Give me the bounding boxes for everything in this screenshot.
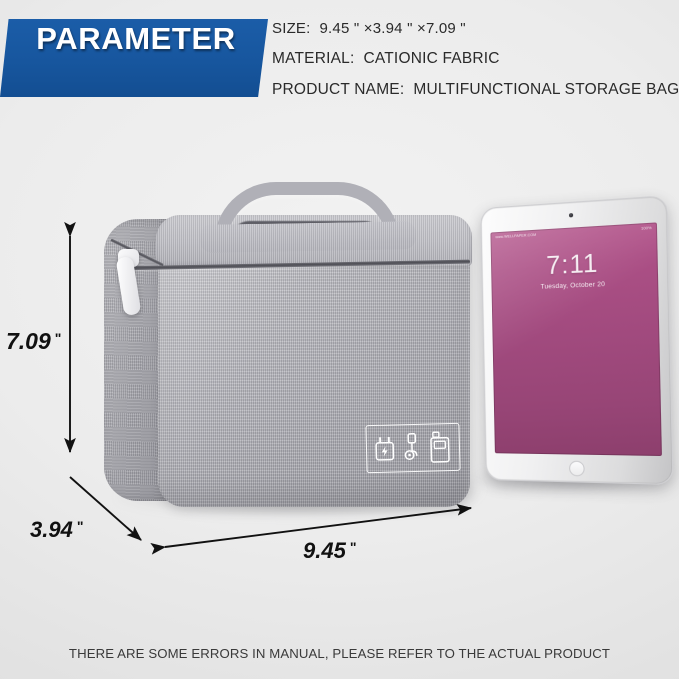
tablet-home-button bbox=[568, 461, 584, 477]
spec-value-size: 9.45 " ×3.94 " ×7.09 " bbox=[320, 20, 466, 37]
width-dimension-label: 9.45" bbox=[303, 538, 356, 564]
height-dimension-unit: " bbox=[55, 330, 62, 346]
spec-value-material: CATIONIC FABRIC bbox=[363, 50, 499, 68]
tablet-screen: www.WELLPAPER.COM 100% 7:11 Tuesday, Oct… bbox=[490, 222, 661, 456]
spec-key-material: MATERIAL: bbox=[272, 50, 354, 68]
parameter-banner-label: PARAMETER bbox=[0, 0, 268, 78]
tablet-carrier-label: www.WELLPAPER.COM bbox=[495, 233, 536, 239]
spec-row-size: SIZE: 9.45 " ×3.94 " ×7.09 " bbox=[272, 20, 676, 50]
product-spec-image: www.WELLPAPER.COM 100% 7:11 Tuesday, Oct… bbox=[0, 0, 679, 679]
tablet-lockscreen-clock: 7:11 Tuesday, October 20 bbox=[491, 248, 658, 293]
tablet-camera-icon bbox=[569, 213, 573, 217]
tablet-time: 7:11 bbox=[491, 248, 658, 282]
spec-key-product-name: PRODUCT NAME: bbox=[272, 81, 404, 99]
spec-value-product-name: MULTIFUNCTIONAL STORAGE BAG bbox=[413, 81, 679, 99]
width-dimension-value: 9.45 bbox=[303, 538, 346, 563]
tablet-date: Tuesday, October 20 bbox=[492, 279, 659, 293]
power-bank-icon bbox=[428, 431, 451, 464]
bag-accessory-icon-patch bbox=[365, 423, 460, 473]
spec-key-size: SIZE: bbox=[272, 20, 311, 37]
storage-bag bbox=[104, 205, 474, 515]
bag-handle-base bbox=[200, 221, 416, 253]
charger-icon bbox=[375, 435, 396, 462]
height-dimension-value: 7.09 bbox=[6, 328, 51, 354]
depth-dimension-unit: " bbox=[77, 518, 84, 534]
tablet-status-bar: www.WELLPAPER.COM 100% bbox=[495, 226, 651, 239]
spec-list: SIZE: 9.45 " ×3.94 " ×7.09 " MATERIAL: C… bbox=[272, 20, 676, 112]
height-dimension-label: 7.09" bbox=[6, 328, 61, 355]
depth-dimension-value: 3.94 bbox=[30, 517, 73, 542]
width-dimension-unit: " bbox=[350, 539, 357, 555]
tablet-body: www.WELLPAPER.COM 100% 7:11 Tuesday, Oct… bbox=[480, 195, 673, 485]
tablet-device: www.WELLPAPER.COM 100% 7:11 Tuesday, Oct… bbox=[480, 195, 673, 485]
spec-row-product-name: PRODUCT NAME: MULTIFUNCTIONAL STORAGE BA… bbox=[272, 81, 676, 112]
footer-disclaimer: THERE ARE SOME ERRORS IN MANUAL, PLEASE … bbox=[0, 646, 679, 661]
depth-dimension-label: 3.94" bbox=[30, 517, 83, 543]
cable-icon bbox=[402, 433, 423, 464]
tablet-battery-label: 100% bbox=[641, 226, 651, 231]
spec-row-material: MATERIAL: CATIONIC FABRIC bbox=[272, 50, 676, 81]
